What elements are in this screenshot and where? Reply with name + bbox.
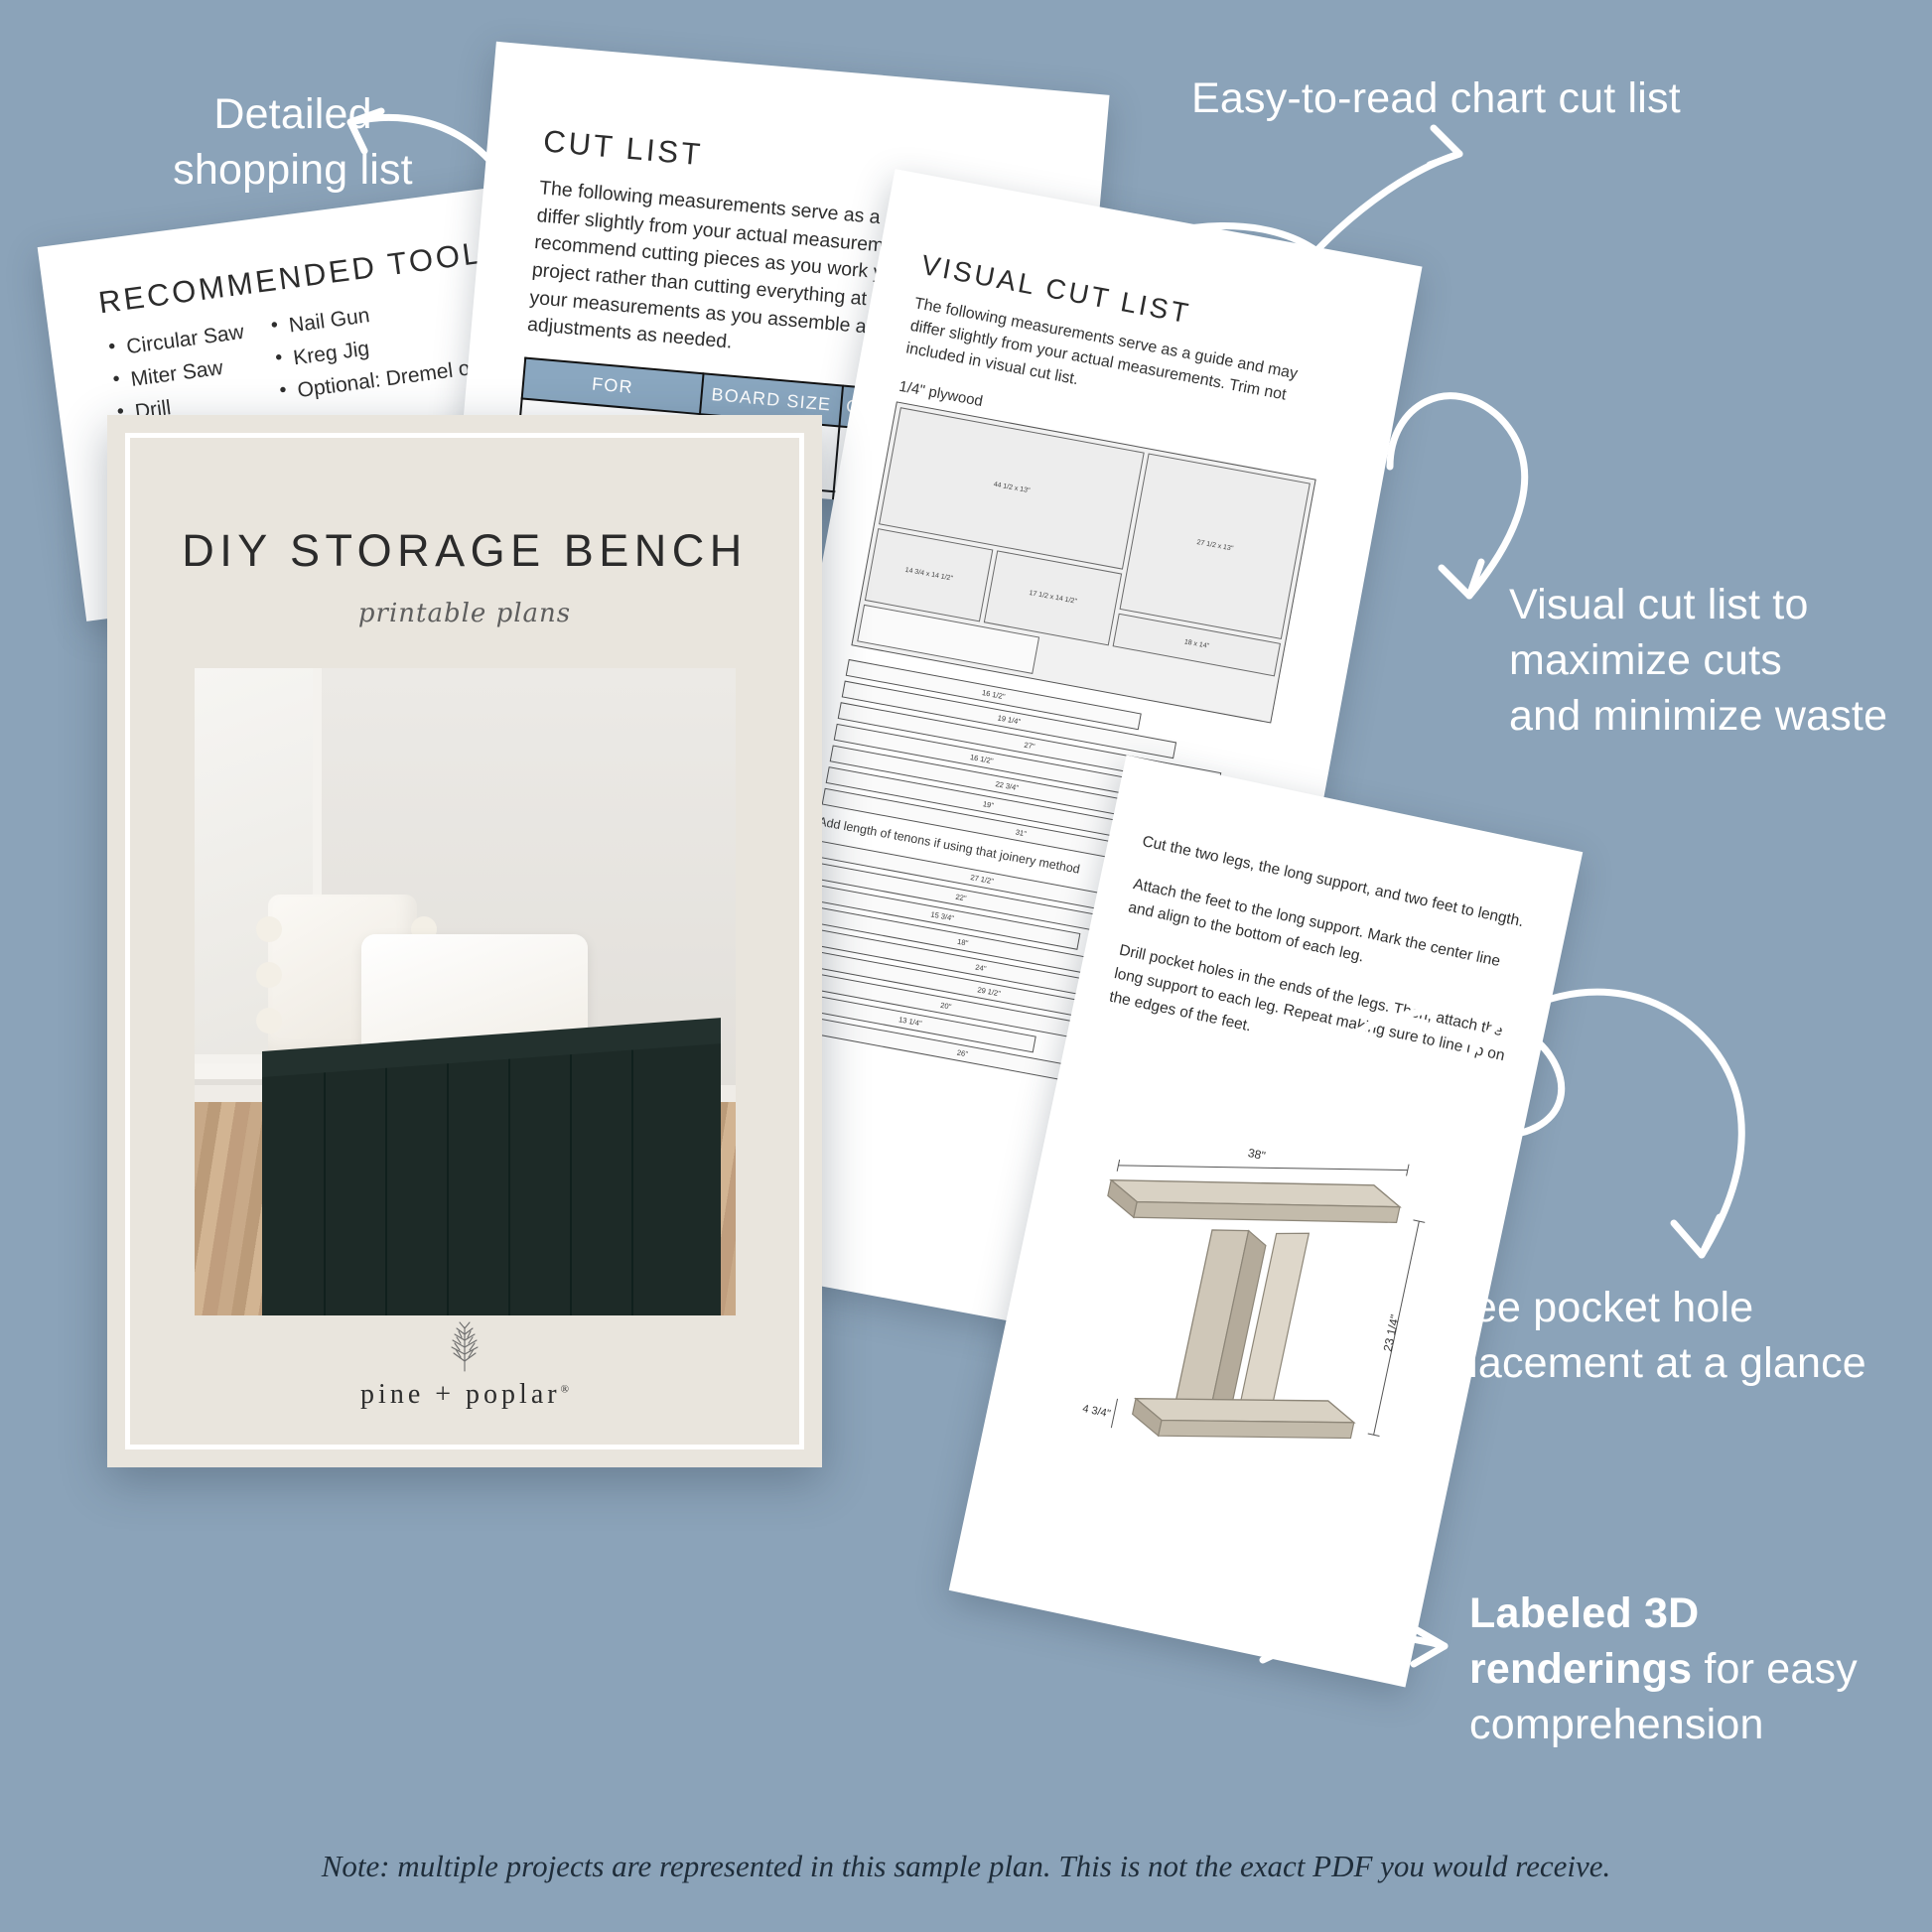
cut-piece-label: 14 3/4 x 14 1/2" [904, 567, 953, 583]
callout-labeled-3d: Labeled 3D renderings for easy comprehen… [1469, 1587, 1906, 1753]
callout-pocket-hole: See pocket hole placement at a glance [1445, 1281, 1921, 1392]
brand-name: pine + poplar® [360, 1379, 569, 1411]
strip-label: 29 1/2" [977, 985, 1002, 998]
callout-visual-cut-list: Visual cut list to maximize cuts and min… [1509, 578, 1932, 745]
strip-label: 13 1/4" [898, 1015, 923, 1028]
callout-line: shopping list [109, 143, 477, 199]
arrow-head-3d [1414, 1628, 1445, 1664]
strip-label: 16 1/2" [969, 753, 994, 765]
marketing-graphic: RECOMMENDED TOOLS Circular Saw Miter Saw… [0, 0, 1932, 1932]
callout-line: maximize cuts [1509, 633, 1932, 689]
cut-piece: 27 1/2 x 13" [1120, 453, 1311, 639]
strip-label: 24" [975, 962, 987, 973]
arrow-head-visual [1442, 562, 1481, 596]
photo-bench-slat [324, 1072, 326, 1315]
photo-tassel [256, 1008, 282, 1034]
strip-label: 27 1/2" [970, 873, 995, 886]
cut-piece-label: 44 1/2 x 13" [993, 482, 1031, 495]
photo-bench-slat [508, 1059, 510, 1315]
callout-line: Detailed [109, 87, 477, 143]
callout-bold: renderings [1469, 1645, 1692, 1693]
strip-label: 26" [956, 1047, 968, 1058]
photo-bench-slat [385, 1068, 387, 1315]
page-title: DIY STORAGE BENCH [182, 525, 747, 577]
arrow-head-render [1674, 1217, 1720, 1255]
pine-sprig-icon [442, 1315, 487, 1373]
callout-detailed-shopping-list: Detailed shopping list [109, 87, 477, 199]
strip-label: 18" [957, 936, 969, 947]
photo-bench-front [262, 1043, 721, 1315]
callout-bold: Labeled 3D [1469, 1589, 1699, 1637]
callout-line: Labeled 3D [1469, 1587, 1906, 1642]
strip-label: 22" [955, 892, 967, 902]
svg-text:38": 38" [1247, 1146, 1267, 1163]
strip-label: 22 3/4" [995, 779, 1020, 792]
strip-label: 20" [940, 1000, 952, 1011]
cut-piece-label: 18 x 14" [1183, 638, 1209, 650]
photo-bench-slat [447, 1063, 449, 1315]
bench-leg-3d-render: 38" 23 1/4" 4 3/4" [1011, 1055, 1486, 1546]
callout-line: Visual cut list to [1509, 578, 1932, 633]
strip-label: 31" [1015, 827, 1027, 838]
callout-line: renderings for easy [1469, 1642, 1906, 1698]
photo-bench-slat [570, 1054, 572, 1315]
callout-line: and minimize waste [1509, 689, 1932, 745]
callout-line: Easy-to-read chart cut list [1191, 71, 1807, 127]
cover-subtitle: printable plans [358, 599, 571, 628]
cut-piece-label: 27 1/2 x 13" [1196, 539, 1234, 553]
cover-inner-frame: DIY STORAGE BENCH printable plans [125, 433, 804, 1449]
callout-line: placement at a glance [1445, 1336, 1921, 1392]
bench-photo [195, 668, 736, 1315]
brand-text: pine + poplar [360, 1379, 561, 1410]
strip-label: 19" [982, 799, 994, 810]
photo-tassel [256, 916, 282, 942]
callout-line: See pocket hole [1445, 1281, 1921, 1336]
callout-easy-chart-cut-list: Easy-to-read chart cut list [1191, 71, 1807, 127]
photo-bench-slat [631, 1050, 633, 1315]
svg-text:4 3/4": 4 3/4" [1081, 1403, 1111, 1421]
svg-text:23 1/4": 23 1/4" [1381, 1313, 1403, 1353]
strip-label: 19 1/4" [997, 713, 1022, 726]
arrow-head-cut-list [1430, 128, 1459, 165]
callout-rest: for easy [1692, 1645, 1858, 1693]
brand-logo: pine + poplar® [360, 1315, 569, 1419]
strip-label: 16 1/2" [981, 688, 1006, 701]
cut-piece-label: 17 1/2 x 14 1/2" [1029, 590, 1077, 606]
photo-tassel [256, 962, 282, 988]
arrow-to-visual-cut-list [1390, 396, 1525, 596]
registered-mark: ® [561, 1384, 569, 1396]
callout-line: comprehension [1469, 1698, 1906, 1753]
disclaimer-note: Note: multiple projects are represented … [0, 1849, 1932, 1884]
strip-label: 15 3/4" [930, 909, 955, 922]
strip-label: 27" [1024, 740, 1035, 751]
cover-page[interactable]: DIY STORAGE BENCH printable plans [107, 415, 822, 1467]
